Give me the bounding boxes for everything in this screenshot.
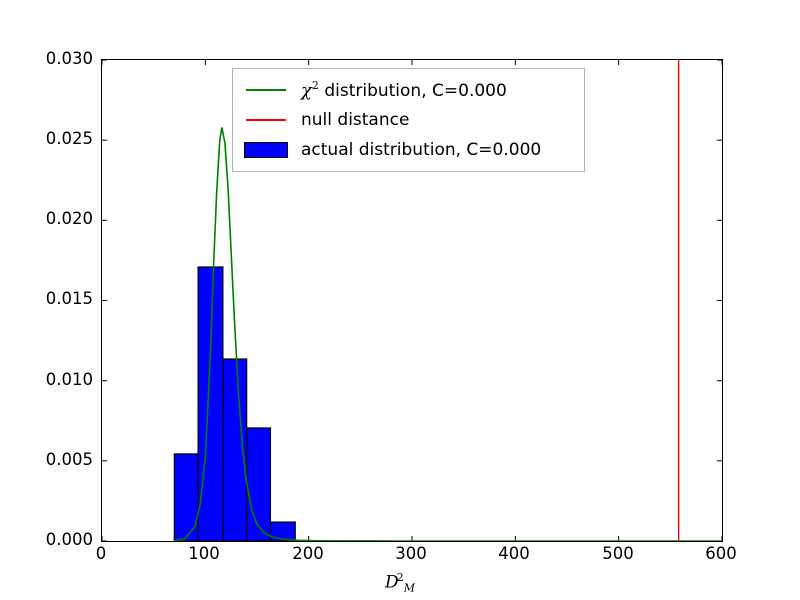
legend-entry-null-distance: null distance xyxy=(241,105,574,135)
red-line-icon xyxy=(241,109,291,131)
x-tick-label: 300 xyxy=(395,546,427,563)
x-tick-label: 400 xyxy=(498,546,530,563)
histogram-bar xyxy=(247,428,271,541)
x-axis-label-subscript: M xyxy=(404,581,415,594)
legend-label-chi-squared-text: distribution, C=0.000 xyxy=(319,81,507,101)
y-axis-tick-labels: 0.030 0.025 0.020 0.015 0.010 0.005 0.00… xyxy=(0,0,93,600)
x-tick-label: 0 xyxy=(96,546,107,563)
x-tick-label: 100 xyxy=(188,546,220,563)
legend-entry-chi-squared: χ2 distribution, C=0.000 xyxy=(241,75,574,105)
x-tick-label: 500 xyxy=(602,546,634,563)
y-tick-label: 0.030 xyxy=(46,51,93,68)
y-tick-label: 0.000 xyxy=(46,532,93,549)
y-tick-label: 0.015 xyxy=(46,291,93,308)
blue-patch-icon xyxy=(241,139,291,161)
legend-box: χ2 distribution, C=0.000 null distance a… xyxy=(232,68,585,172)
legend-label-chi-squared: χ2 distribution, C=0.000 xyxy=(301,80,507,100)
histogram-bars xyxy=(174,267,295,541)
green-line-icon xyxy=(241,79,291,101)
legend-entry-actual-distribution: actual distribution, C=0.000 xyxy=(241,135,574,165)
y-tick-label: 0.005 xyxy=(46,452,93,469)
figure-canvas: 0.030 0.025 0.020 0.015 0.010 0.005 0.00… xyxy=(0,0,800,600)
chi-symbol: χ xyxy=(301,80,312,101)
y-tick-label: 0.025 xyxy=(46,131,93,148)
chi-exponent: 2 xyxy=(312,79,319,92)
x-axis-label: D2M xyxy=(0,571,800,594)
x-axis-label-superscript: 2 xyxy=(397,571,404,584)
x-tick-label: 200 xyxy=(292,546,324,563)
legend-label-null-distance: null distance xyxy=(301,112,409,129)
x-tick-label: 600 xyxy=(705,546,737,563)
legend-label-actual-distribution: actual distribution, C=0.000 xyxy=(301,142,541,159)
histogram-bar xyxy=(198,267,223,541)
y-tick-label: 0.020 xyxy=(46,211,93,228)
y-tick-label: 0.010 xyxy=(46,372,93,389)
